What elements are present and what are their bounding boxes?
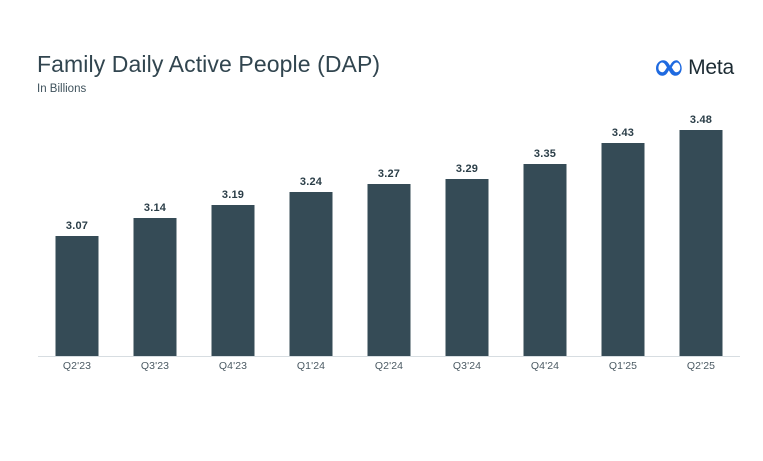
page-title: Family Daily Active People (DAP)	[37, 50, 735, 78]
bar-item: 3.19	[194, 112, 272, 357]
bar-rect	[212, 205, 255, 357]
bar-rect	[680, 130, 723, 357]
bar-item: 3.14	[116, 112, 194, 357]
bar-item: 3.43	[584, 112, 662, 357]
meta-infinity-icon	[656, 59, 682, 77]
bar-series: 3.073.143.193.243.273.293.353.433.48	[38, 112, 740, 357]
bar-item: 3.27	[350, 112, 428, 357]
bar-item: 3.48	[662, 112, 740, 357]
bar-item: 3.24	[272, 112, 350, 357]
bar-value-label: 3.14	[144, 202, 166, 214]
x-axis-tick-label: Q2'23	[63, 360, 91, 372]
bar-item: 3.07	[38, 112, 116, 357]
x-axis-tick-label: Q1'24	[297, 360, 325, 372]
bar-rect	[446, 179, 489, 357]
bar-chart-plot-area: 3.073.143.193.243.273.293.353.433.48	[38, 112, 740, 357]
x-axis-tick-labels: Q2'23Q3'23Q4'23Q1'24Q2'24Q3'24Q4'24Q1'25…	[38, 360, 740, 378]
bar-value-label: 3.19	[222, 189, 244, 201]
chart-subtitle: In Billions	[37, 82, 735, 96]
x-axis-tick-label: Q4'24	[531, 360, 559, 372]
bar-item: 3.29	[428, 112, 506, 357]
bar-value-label: 3.43	[612, 127, 634, 139]
x-axis-tick-label: Q2'25	[687, 360, 715, 372]
bar-rect	[524, 164, 567, 357]
x-axis-line	[38, 356, 740, 357]
x-axis-tick-label: Q4'23	[219, 360, 247, 372]
x-axis-tick-label: Q1'25	[609, 360, 637, 372]
bar-value-label: 3.29	[456, 163, 478, 175]
bar-value-label: 3.24	[300, 176, 322, 188]
x-axis-tick-label: Q3'24	[453, 360, 481, 372]
x-axis-tick-label: Q3'23	[141, 360, 169, 372]
bar-rect	[134, 218, 177, 357]
bar-rect	[368, 184, 411, 357]
x-axis-tick-label: Q2'24	[375, 360, 403, 372]
chart-header: Family Daily Active People (DAP) In Bill…	[37, 50, 735, 100]
brand-name-label: Meta	[688, 57, 734, 78]
bar-value-label: 3.27	[378, 168, 400, 180]
bar-rect	[290, 192, 333, 357]
bar-value-label: 3.48	[690, 114, 712, 126]
bar-rect	[602, 143, 645, 357]
bar-value-label: 3.07	[66, 220, 88, 232]
chart-slide: Family Daily Active People (DAP) In Bill…	[0, 0, 763, 461]
bar-rect	[56, 236, 99, 357]
bar-item: 3.35	[506, 112, 584, 357]
bar-value-label: 3.35	[534, 148, 556, 160]
meta-brand-logo: Meta	[656, 57, 734, 78]
